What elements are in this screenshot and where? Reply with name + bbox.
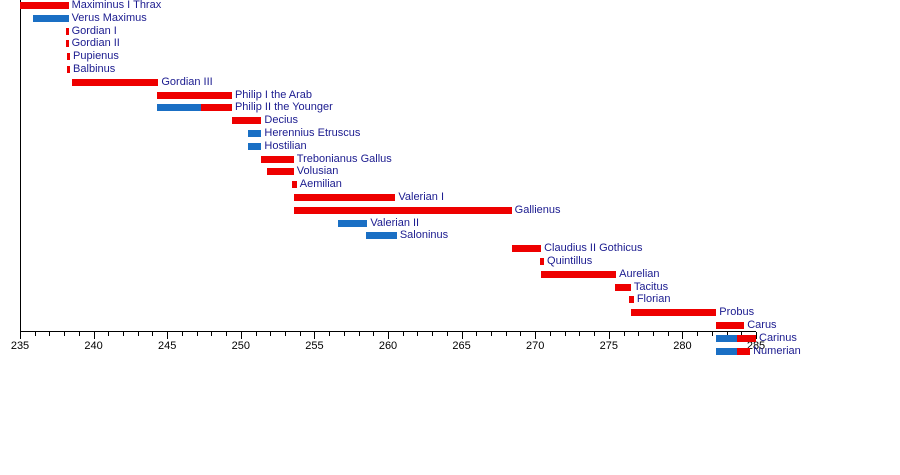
emperor-name-label: Carinus [759,332,797,344]
reign-bar-junior[interactable] [716,335,737,342]
timeline-row[interactable]: Saloninus [0,230,900,243]
reign-bar-sole[interactable] [540,258,544,265]
timeline-row[interactable]: Numerian [0,346,900,359]
emperor-name-label: Volusian [297,165,339,177]
timeline-row[interactable]: Trebonianus Gallus [0,154,900,167]
timeline-row[interactable]: Volusian [0,166,900,179]
timeline-row[interactable]: Hostilian [0,141,900,154]
chart-root: 235240245250255260265270275280285 Maximi… [0,0,900,475]
reign-bar-sole[interactable] [631,309,716,316]
timeline-row[interactable]: Aurelian [0,269,900,282]
reign-bar-sole[interactable] [294,194,396,201]
emperor-name-label: Gordian II [72,37,120,49]
reign-bar-sole[interactable] [267,168,293,175]
timeline-row[interactable]: Balbinus [0,64,900,77]
reign-bar-sole[interactable] [292,181,296,188]
reign-bar-sole[interactable] [737,335,756,342]
emperor-name-label: Pupienus [73,50,119,62]
timeline-row[interactable]: Gallienus [0,205,900,218]
reign-bar-sole[interactable] [201,104,232,111]
reign-bar-sole[interactable] [716,322,744,329]
timeline-row[interactable]: Aemilian [0,179,900,192]
timeline-row[interactable]: Valerian I [0,192,900,205]
emperor-name-label: Decius [264,114,298,126]
timeline-plot-area: 235240245250255260265270275280285 Maximi… [0,0,900,340]
emperor-name-label: Numerian [753,345,801,357]
emperor-name-label: Gordian III [161,76,212,88]
reign-bar-sole[interactable] [629,296,633,303]
emperor-name-label: Valerian I [398,191,444,203]
reign-bar-sole[interactable] [67,53,70,60]
reign-bar-junior[interactable] [338,220,367,227]
timeline-row[interactable]: Gordian II [0,38,900,51]
emperor-name-label: Carus [747,319,776,331]
emperor-name-label: Florian [637,293,671,305]
emperor-name-label: Probus [719,306,754,318]
reign-bar-sole[interactable] [72,79,159,86]
reign-bar-sole[interactable] [232,117,261,124]
timeline-row[interactable]: Claudius II Gothicus [0,243,900,256]
emperor-name-label: Hostilian [264,140,306,152]
timeline-row[interactable]: Decius [0,115,900,128]
emperor-name-label: Verus Maximus [72,12,147,24]
timeline-row[interactable]: Gordian III [0,77,900,90]
reign-bar-sole[interactable] [261,156,293,163]
emperor-name-label: Claudius II Gothicus [544,242,642,254]
reign-bar-sole[interactable] [66,28,69,35]
reign-bar-sole[interactable] [737,348,750,355]
emperor-name-label: Gallienus [515,204,561,216]
emperor-name-label: Tacitus [634,281,668,293]
timeline-row[interactable]: Philip II the Younger [0,102,900,115]
reign-bar-sole[interactable] [615,284,631,291]
timeline-row[interactable]: Florian [0,294,900,307]
emperor-name-label: Saloninus [400,229,448,241]
reign-bar-junior[interactable] [366,232,397,239]
emperor-name-label: Balbinus [73,63,115,75]
reign-bar-sole[interactable] [66,40,69,47]
timeline-row[interactable]: Tacitus [0,282,900,295]
reign-bar-junior[interactable] [716,348,737,355]
emperor-name-label: Aemilian [300,178,342,190]
emperor-name-label: Valerian II [370,217,419,229]
emperor-name-label: Gordian I [72,25,117,37]
reign-bar-junior[interactable] [33,15,68,22]
reign-bar-sole[interactable] [157,92,232,99]
emperor-name-label: Philip I the Arab [235,89,312,101]
reign-bar-sole[interactable] [20,2,69,9]
reign-bar-junior[interactable] [157,104,201,111]
timeline-row[interactable]: Philip I the Arab [0,90,900,103]
emperor-name-label: Trebonianus Gallus [297,153,392,165]
emperor-name-label: Aurelian [619,268,659,280]
reign-bar-sole[interactable] [294,207,512,214]
reign-bar-junior[interactable] [248,130,261,137]
timeline-row[interactable]: Pupienus [0,51,900,64]
timeline-row[interactable]: Herennius Etruscus [0,128,900,141]
emperor-name-label: Philip II the Younger [235,101,333,113]
reign-bar-junior[interactable] [248,143,261,150]
reign-bar-sole[interactable] [541,271,616,278]
emperor-name-label: Herennius Etruscus [264,127,360,139]
emperor-name-label: Quintillus [547,255,592,267]
reign-bar-sole[interactable] [512,245,541,252]
timeline-row[interactable]: Valerian II [0,218,900,231]
reign-bar-sole[interactable] [67,66,70,73]
emperor-name-label: Maximinus I Thrax [72,0,162,11]
timeline-row[interactable]: Gordian I [0,26,900,39]
timeline-row[interactable]: Quintillus [0,256,900,269]
timeline-row[interactable]: Verus Maximus [0,13,900,26]
